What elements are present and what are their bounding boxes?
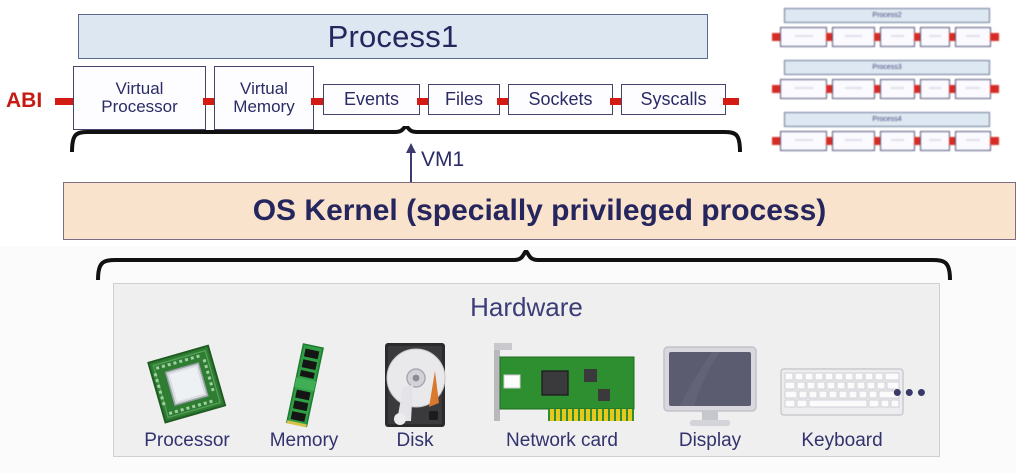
abi-box-virtual-memory: Virtual Memory	[214, 66, 314, 130]
mini-abi-box	[920, 79, 950, 99]
keyboard-icon	[777, 341, 907, 429]
network-card-icon	[486, 341, 638, 429]
abi-box-sockets: Sockets	[508, 84, 613, 115]
mini-abi-box	[832, 27, 875, 47]
mini-process-abi-row	[772, 131, 1004, 151]
hardware-more-ellipsis: •••	[893, 377, 929, 408]
hardware-item-memory: Memory	[250, 341, 358, 450]
hardware-item-keyboard: Keyboard	[772, 341, 912, 450]
abi-box-events: Events	[323, 84, 420, 115]
mini-process-2: Process2	[772, 8, 1004, 52]
abi-box-virtual-processor: Virtual Processor	[73, 66, 206, 130]
mini-abi-box	[880, 79, 915, 99]
hardware-item-label: Processor	[126, 429, 248, 450]
hardware-item-processor: Processor	[126, 341, 248, 450]
hardware-item-disk: Disk	[360, 341, 470, 450]
hardware-item-label: Display	[650, 429, 770, 450]
mini-abi-box	[920, 27, 950, 47]
mini-process-header: Process2	[784, 8, 990, 23]
mini-abi-box	[955, 79, 991, 99]
monitor-icon	[660, 341, 760, 429]
mini-abi-box	[955, 131, 991, 151]
hardware-panel: Hardware	[113, 283, 940, 457]
mini-process-header: Process4	[784, 112, 990, 127]
hardware-item-network-card: Network card	[472, 341, 652, 450]
ram-module-icon	[262, 341, 346, 429]
diagram-canvas: Process1 ABI Virtual Processor Virtual M…	[0, 0, 1016, 473]
mini-connector	[990, 85, 999, 93]
mini-process-header: Process3	[784, 60, 990, 75]
mini-abi-box	[780, 79, 827, 99]
abi-box-syscalls: Syscalls	[621, 84, 726, 115]
hard-disk-icon	[377, 341, 453, 429]
vm1-label: VM1	[421, 148, 464, 172]
mini-abi-box	[780, 131, 827, 151]
hardware-title: Hardware	[114, 292, 939, 323]
abi-connector-right	[723, 98, 739, 105]
mini-abi-box	[832, 79, 875, 99]
hardware-item-label: Disk	[360, 429, 470, 450]
abi-box-line2: Memory	[233, 97, 294, 116]
mini-connector	[990, 33, 999, 41]
mini-process-4: Process4	[772, 112, 1004, 156]
hardware-item-label: Memory	[250, 429, 358, 450]
hardware-item-display: Display	[650, 341, 770, 450]
hardware-item-label: Network card	[472, 429, 652, 450]
abi-box-line1: Virtual	[240, 79, 288, 98]
process1-header-box: Process1	[78, 14, 708, 59]
mini-abi-box	[880, 27, 915, 47]
mini-abi-box	[880, 131, 915, 151]
abi-box-files: Files	[428, 84, 500, 115]
os-kernel-box: OS Kernel (specially privileged process)	[63, 182, 1016, 240]
vm1-arrow-icon	[404, 142, 418, 184]
mini-process-abi-row	[772, 79, 1004, 99]
abi-box-line1: Virtual	[116, 79, 164, 98]
mini-abi-box	[780, 27, 827, 47]
hardware-item-label: Keyboard	[772, 429, 912, 450]
mini-connector	[990, 137, 999, 145]
hardware-grouping-brace	[96, 250, 952, 280]
mini-abi-box	[955, 27, 991, 47]
abi-connector-left	[55, 98, 75, 105]
abi-box-line2: Processor	[101, 97, 178, 116]
hardware-item-list: Processor	[122, 324, 933, 450]
mini-process-abi-row	[772, 27, 1004, 47]
mini-abi-box	[920, 131, 950, 151]
mini-abi-box	[832, 131, 875, 151]
mini-process-3: Process3	[772, 60, 1004, 104]
cpu-chip-icon	[138, 341, 236, 429]
abi-label: ABI	[6, 88, 58, 114]
